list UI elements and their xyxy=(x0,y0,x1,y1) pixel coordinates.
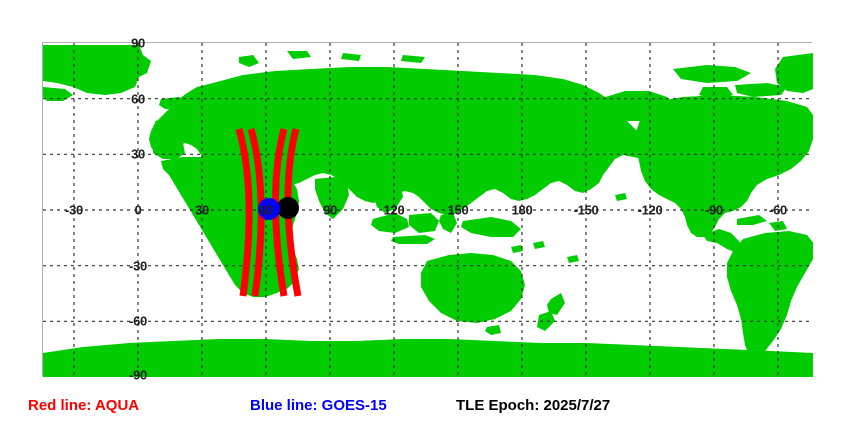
lon-tick-90: 90 xyxy=(323,203,337,218)
lon-tick--30: -30 xyxy=(65,203,83,218)
lon-tick--60: -60 xyxy=(769,203,787,218)
legend-red-line-aqua: Red line: AQUA xyxy=(28,397,139,414)
world-map-plot: -30 0 30 60 90 120 150 180 -150 -120 -90… xyxy=(42,42,812,376)
lon-tick-0: 0 xyxy=(135,203,142,218)
lat-tick--30: -30 xyxy=(129,258,147,273)
lat-tick-60: 60 xyxy=(131,91,145,106)
lon-tick--150: -150 xyxy=(574,203,599,218)
lon-tick-180: 180 xyxy=(512,203,533,218)
lat-tick--60: -60 xyxy=(129,314,147,329)
satellite-track-map-page: -30 0 30 60 90 120 150 180 -150 -120 -90… xyxy=(0,0,850,425)
legend-blue-line-goes15: Blue line: GOES-15 xyxy=(250,397,387,414)
map-legend: Red line: AQUA Blue line: GOES-15 TLE Ep… xyxy=(0,393,850,425)
lon-tick--90: -90 xyxy=(705,203,723,218)
legend-tle-epoch: TLE Epoch: 2025/7/27 xyxy=(456,397,610,414)
lat-tick-30: 30 xyxy=(131,147,145,162)
lon-tick-30: 30 xyxy=(195,203,209,218)
world-map-svg xyxy=(43,43,813,377)
lon-tick-60: 60 xyxy=(259,203,273,218)
lat-tick-90: 90 xyxy=(131,36,145,51)
lon-tick--120: -120 xyxy=(638,203,663,218)
lon-tick-120: 120 xyxy=(384,203,405,218)
lat-tick--90: -90 xyxy=(129,368,147,383)
lon-tick-150: 150 xyxy=(448,203,469,218)
aqua-position-marker xyxy=(277,197,299,219)
